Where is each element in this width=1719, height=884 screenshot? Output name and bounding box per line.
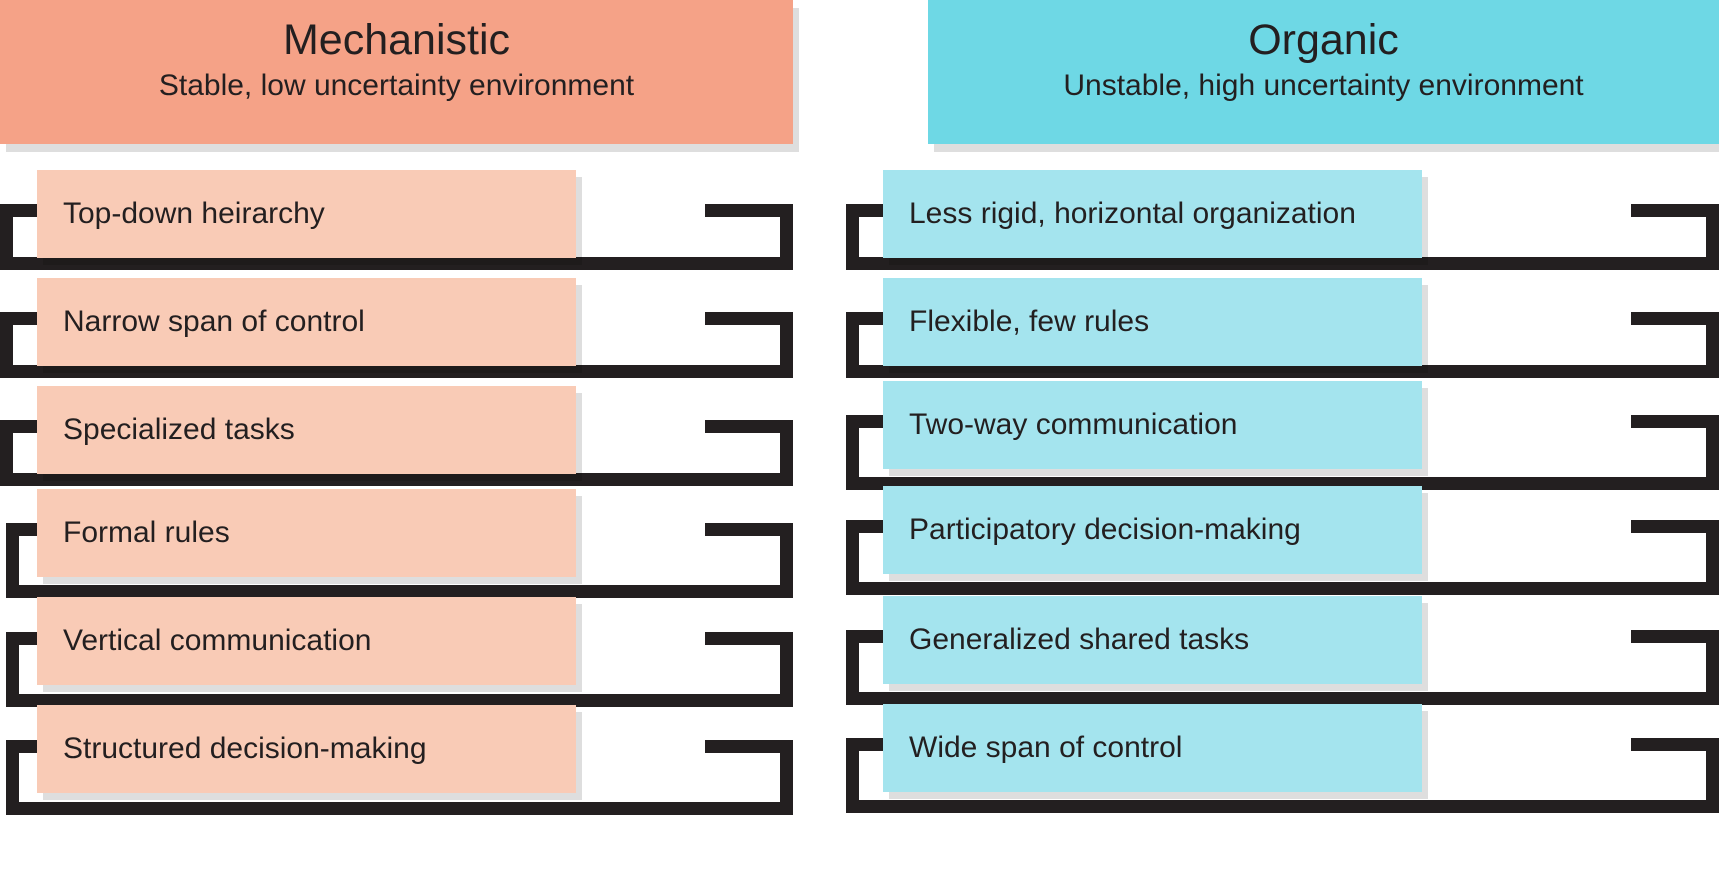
list-item: Vertical communication bbox=[37, 597, 576, 685]
list-item: Flexible, few rules bbox=[883, 278, 1422, 366]
list-item: Participatory decision-making bbox=[883, 486, 1422, 574]
column-header-mechanistic: Mechanistic Stable, low uncertainty envi… bbox=[0, 0, 793, 144]
item-label: Formal rules bbox=[63, 515, 230, 551]
item-label: Flexible, few rules bbox=[909, 304, 1149, 340]
list-item: Structured decision-making bbox=[37, 705, 576, 793]
bracket-stub-right bbox=[705, 204, 793, 217]
column-header-organic: Organic Unstable, high uncertainty envir… bbox=[928, 0, 1719, 144]
column-title-mechanistic: Mechanistic bbox=[0, 14, 793, 66]
bracket-stub-right bbox=[705, 420, 793, 433]
comparison-diagram: Mechanistic Stable, low uncertainty envi… bbox=[0, 0, 1719, 884]
item-label: Generalized shared tasks bbox=[909, 622, 1249, 658]
bracket-stub-right bbox=[1631, 312, 1719, 325]
bracket-stub-right bbox=[1631, 520, 1719, 533]
column-subtitle-organic: Unstable, high uncertainty environment bbox=[928, 66, 1719, 106]
bracket-stub-right bbox=[705, 632, 793, 645]
item-label: Narrow span of control bbox=[63, 304, 365, 340]
list-item: Wide span of control bbox=[883, 704, 1422, 792]
bracket-stub-right bbox=[705, 740, 793, 753]
bracket-stub-right bbox=[1631, 630, 1719, 643]
list-item: Generalized shared tasks bbox=[883, 596, 1422, 684]
column-title-organic: Organic bbox=[928, 14, 1719, 66]
bracket-stub-right bbox=[705, 312, 793, 325]
item-label: Less rigid, horizontal organization bbox=[909, 196, 1356, 232]
item-label: Participatory decision-making bbox=[909, 512, 1301, 548]
list-item: Narrow span of control bbox=[37, 278, 576, 366]
bracket-stub-right bbox=[1631, 738, 1719, 751]
item-label: Structured decision-making bbox=[63, 731, 427, 767]
bracket-stub-right bbox=[1631, 204, 1719, 217]
list-item: Less rigid, horizontal organization bbox=[883, 170, 1422, 258]
bracket-stub-right bbox=[1631, 415, 1719, 428]
item-label: Specialized tasks bbox=[63, 412, 295, 448]
column-subtitle-mechanistic: Stable, low uncertainty environment bbox=[0, 66, 793, 106]
item-label: Vertical communication bbox=[63, 623, 371, 659]
list-item: Top-down heirarchy bbox=[37, 170, 576, 258]
list-item: Two-way communication bbox=[883, 381, 1422, 469]
list-item: Specialized tasks bbox=[37, 386, 576, 474]
item-label: Top-down heirarchy bbox=[63, 196, 325, 232]
item-label: Wide span of control bbox=[909, 730, 1182, 766]
item-label: Two-way communication bbox=[909, 407, 1237, 443]
bracket-stub-right bbox=[705, 523, 793, 536]
list-item: Formal rules bbox=[37, 489, 576, 577]
